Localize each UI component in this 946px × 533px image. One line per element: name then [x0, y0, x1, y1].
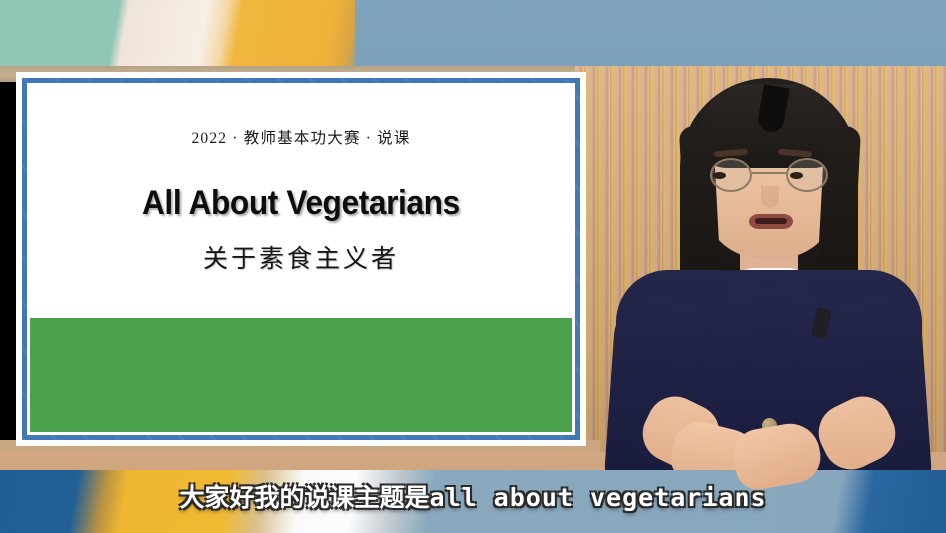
slide-canvas: 2022 · 教师基本功大赛 · 说课 All About Vegetarian… — [30, 86, 572, 432]
nose — [761, 186, 779, 208]
slide-green-band — [30, 318, 572, 432]
screenshot-stage: 2022 · 教师基本功大赛 · 说课 All About Vegetarian… — [0, 0, 946, 533]
slide-content-area: 2022 · 教师基本功大赛 · 说课 All About Vegetarian… — [27, 83, 575, 435]
slide-title-chinese: 关于素食主义者 — [203, 239, 399, 275]
slide-title-block: 2022 · 教师基本功大赛 · 说课 All About Vegetarian… — [30, 86, 572, 314]
presenter-figure — [592, 62, 944, 487]
mouth-inner — [755, 218, 787, 224]
subtitle-caption: 大家好我的说课主题是all about vegetarians — [0, 478, 946, 514]
slide-blue-frame: 2022 · 教师基本功大赛 · 说课 All About Vegetarian… — [19, 75, 583, 443]
subtitle-chinese-part: 大家好我的说课主题是 — [179, 484, 429, 512]
slide-title-english: All About Vegetarians — [142, 184, 460, 223]
slide-kicker: 2022 · 教师基本功大赛 · 说课 — [191, 126, 410, 148]
eye-right — [790, 172, 803, 179]
eye-left — [713, 172, 726, 179]
presentation-slide: 2022 · 教师基本功大赛 · 说课 All About Vegetarian… — [16, 72, 586, 446]
subtitle-english-part: all about vegetarians — [429, 483, 766, 512]
glasses-bridge — [752, 172, 788, 174]
top-sky-panel — [355, 0, 946, 68]
